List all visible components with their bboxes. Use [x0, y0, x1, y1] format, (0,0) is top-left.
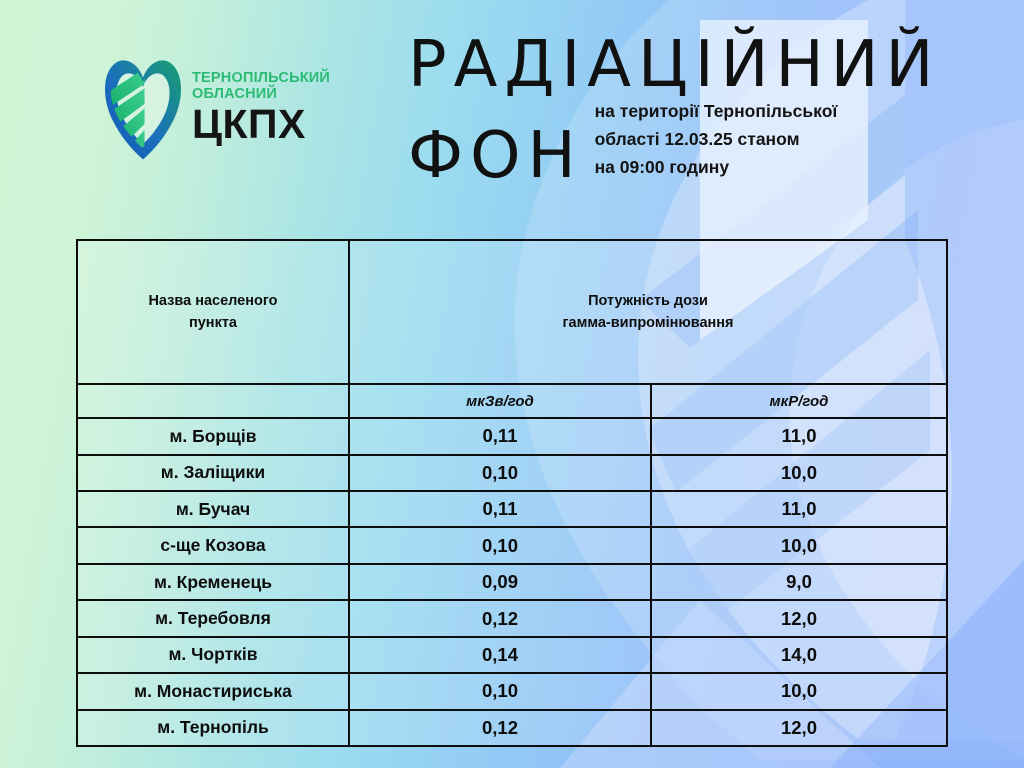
header-dose-rate-line-2: гамма-випромінювання [351, 312, 945, 334]
cell-dose-urh: 11,0 [651, 491, 947, 527]
shield-heart-logo-icon [104, 56, 182, 164]
table-row: м. Тернопіль0,1212,0 [77, 710, 947, 746]
header-settlement-name: Назва населеного пункта [77, 240, 349, 384]
subtitle-line-3: на 09:00 годину [595, 153, 838, 181]
cell-dose-usv: 0,14 [349, 637, 651, 673]
table-row: м. Теребовля0,1212,0 [77, 600, 947, 636]
header-dose-rate: Потужність дози гамма-випромінювання [349, 240, 947, 384]
table-row: м. Борщів0,1111,0 [77, 418, 947, 454]
cell-dose-urh: 9,0 [651, 564, 947, 600]
cell-dose-usv: 0,11 [349, 418, 651, 454]
units-row: мкЗв/год мкР/год [77, 384, 947, 418]
title-line-1: РАДІАЦІЙНИЙ [408, 34, 1008, 97]
table-row: м. Кременець0,099,0 [77, 564, 947, 600]
subtitle-line-2: області 12.03.25 станом [595, 125, 838, 153]
cell-settlement-name: м. Чортків [77, 637, 349, 673]
table-row: м. Чортків0,1414,0 [77, 637, 947, 673]
logo-line-2: ОБЛАСНИЙ [192, 86, 330, 102]
cell-settlement-name: м. Тернопіль [77, 710, 349, 746]
cell-dose-urh: 14,0 [651, 637, 947, 673]
units-blank-cell [77, 384, 349, 418]
cell-settlement-name: м. Монастириська [77, 673, 349, 709]
title-line-2-row: ФОН на території Тернопільської області … [408, 97, 1008, 188]
table-row: с-ще Козова0,1010,0 [77, 527, 947, 563]
cell-dose-usv: 0,12 [349, 710, 651, 746]
cell-dose-urh: 10,0 [651, 455, 947, 491]
table-row: м. Бучач0,1111,0 [77, 491, 947, 527]
cell-settlement-name: с-ще Козова [77, 527, 349, 563]
organisation-logo: ТЕРНОПІЛЬСЬКИЙ ОБЛАСНИЙ ЦКПХ [104, 56, 404, 174]
logo-abbreviation: ЦКПХ [192, 104, 330, 145]
cell-dose-usv: 0,10 [349, 455, 651, 491]
cell-dose-urh: 10,0 [651, 527, 947, 563]
radiation-table: Назва населеного пункта Потужність дози … [76, 239, 948, 747]
cell-dose-urh: 11,0 [651, 418, 947, 454]
cell-settlement-name: м. Заліщики [77, 455, 349, 491]
cell-dose-urh: 12,0 [651, 600, 947, 636]
cell-dose-urh: 10,0 [651, 673, 947, 709]
cell-settlement-name: м. Бучач [77, 491, 349, 527]
header-dose-rate-line-1: Потужність дози [351, 290, 945, 312]
table-row: м. Заліщики0,1010,0 [77, 455, 947, 491]
cell-dose-usv: 0,10 [349, 527, 651, 563]
table-body: мкЗв/год мкР/год м. Борщів0,1111,0м. Зал… [77, 384, 947, 746]
cell-dose-urh: 12,0 [651, 710, 947, 746]
title-line-2: ФОН [408, 125, 583, 188]
cell-settlement-name: м. Теребовля [77, 600, 349, 636]
subtitle-line-1: на території Тернопільської [595, 97, 838, 125]
unit-urh-label: мкР/год [651, 384, 947, 418]
cell-settlement-name: м. Кременець [77, 564, 349, 600]
unit-usv-label: мкЗв/год [349, 384, 651, 418]
subtitle: на території Тернопільської області 12.0… [595, 97, 838, 188]
cell-settlement-name: м. Борщів [77, 418, 349, 454]
logo-line-1: ТЕРНОПІЛЬСЬКИЙ [192, 70, 330, 86]
cell-dose-usv: 0,10 [349, 673, 651, 709]
table-header-row: Назва населеного пункта Потужність дози … [77, 240, 947, 384]
page-title: РАДІАЦІЙНИЙ ФОН на території Тернопільсь… [408, 34, 1008, 188]
cell-dose-usv: 0,12 [349, 600, 651, 636]
table-row: м. Монастириська0,1010,0 [77, 673, 947, 709]
header-settlement-name-line-2: пункта [79, 312, 347, 334]
cell-dose-usv: 0,11 [349, 491, 651, 527]
logo-wordmark: ТЕРНОПІЛЬСЬКИЙ ОБЛАСНИЙ ЦКПХ [192, 56, 330, 145]
cell-dose-usv: 0,09 [349, 564, 651, 600]
header-settlement-name-line-1: Назва населеного [79, 290, 347, 312]
radiation-table-container: Назва населеного пункта Потужність дози … [76, 239, 948, 747]
